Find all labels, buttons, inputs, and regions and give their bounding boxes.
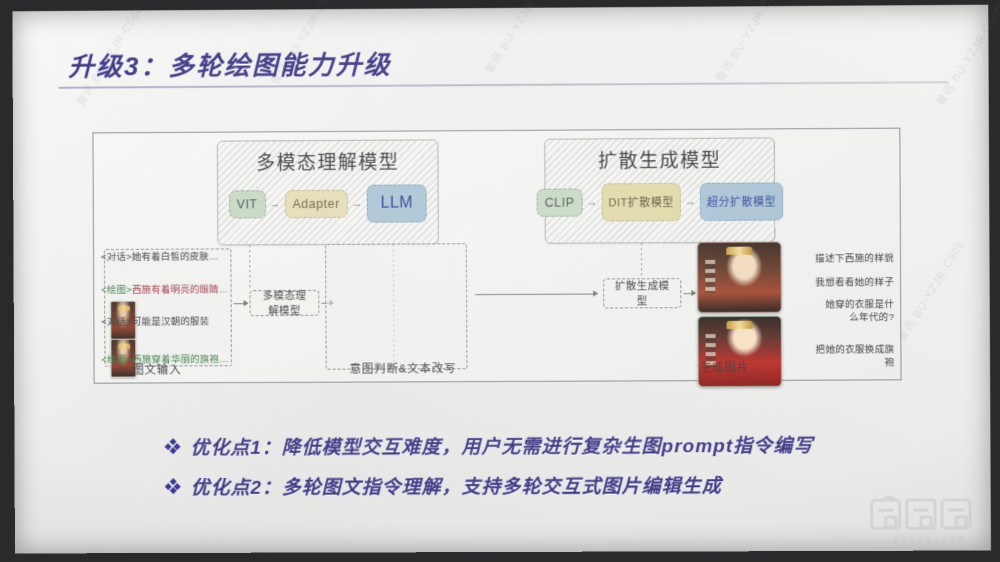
arrow-input-to-mm [234, 303, 248, 304]
model-box-diffusion: 扩散生成模型 [603, 278, 681, 308]
arrow-right-icon: → [269, 198, 280, 210]
group-multimodal-understanding: 多模态理解模型 VIT → Adapter → LLM [217, 139, 439, 245]
tag-dialog: <对话> [101, 317, 132, 328]
logo-glyph-dong [905, 499, 936, 530]
chip-row: VIT → Adapter → LLM [218, 184, 438, 223]
rewrite-text: 她有着白皙的皮肤… [132, 251, 219, 262]
chip-clip: CLIP [537, 189, 583, 217]
image-decor [726, 321, 752, 329]
diamond-bullet-icon [166, 479, 180, 493]
tag-dialog: <对话> [101, 252, 132, 263]
rewrite-text: 西施有着明亮的眼睛… [132, 284, 229, 295]
chip-superres-diffusion: 超分扩散模型 [700, 182, 783, 221]
diamond-bullet-icon [166, 439, 180, 453]
presentation-slide: 曾讯 BU-YZJR-C50b 曾讯 BU-YZJR-C50b 曾讯 BU-YZ… [12, 5, 991, 554]
image-decor [726, 247, 752, 255]
group-title: 扩散生成模型 [545, 145, 774, 173]
logo-domain: zhidx.com [870, 534, 989, 544]
chip-adapter: Adapter [284, 190, 347, 218]
image-decor [705, 259, 716, 292]
tag-draw: <绘图> [101, 285, 132, 296]
list-item: 优化点1：降低模型交互难度，用户无需进行复杂生图prompt指令编写 [166, 431, 814, 460]
rewrite-text: 西施穿着华丽的旗袍… [132, 354, 229, 365]
page-title: 升级3：多轮绘图能力升级 [68, 45, 391, 84]
generated-image-hanfu [697, 242, 782, 314]
logo-glyph-zhi [870, 499, 901, 530]
caption-intent-rewrite: 意图判断&文本改写 [350, 360, 457, 376]
chip-dit-diffusion: DIT扩散模型 [601, 183, 681, 221]
logo-glyph-xi [940, 498, 971, 529]
bullet-text: 优化点2：多轮图文指令理解，支持多轮交互式图片编辑生成 [191, 471, 722, 500]
antenna-icon [881, 496, 897, 503]
watermark: 曾讯 BU-YZJR-C50b [893, 237, 968, 345]
chip-vit: VIT [229, 190, 266, 218]
brand-logo: zhidx.com [870, 498, 989, 551]
arrow-right-icon: → [352, 198, 363, 210]
group-diffusion-generation: 扩散生成模型 CLIP → DIT扩散模型 → 超分扩散模型 [544, 137, 775, 243]
rewrite-text: 可能是汉朝的服装 [132, 316, 209, 327]
bullet-list: 优化点1：降低模型交互难度，用户无需进行复杂生图prompt指令编写 优化点2：… [166, 431, 814, 513]
tag-draw: <绘图> [101, 355, 132, 366]
list-item: 优化点2：多轮图文指令理解，支持多轮交互式图片编辑生成 [166, 471, 814, 500]
watermark: 曾讯 BU-YZJR-C50b [711, 0, 786, 85]
logo-glyphs [870, 498, 989, 529]
chip-llm: LLM [366, 184, 427, 222]
projector-photo: 曾讯 BU-YZJR-C50b 曾讯 BU-YZJR-C50b 曾讯 BU-YZ… [0, 0, 1000, 562]
arrow-diffusion-to-output [683, 293, 695, 294]
watermark: 曾讯 BU-YZJR-C50b [481, 0, 556, 77]
pipeline-diagram: 多模态理解模型 VIT → Adapter → LLM 扩散生成模型 CLIP … [92, 128, 901, 384]
arrow-right-icon: → [586, 196, 597, 208]
watermark: 曾讯 BU-YZJR-C50b [932, 1, 1000, 109]
caption-generated-images: 生成图片 [700, 359, 749, 375]
group-title: 多模态理解模型 [218, 147, 438, 175]
bullet-text: 优化点1：降低模型交互难度，用户无需进行复杂生图prompt指令编写 [190, 431, 813, 460]
chip-row: CLIP → DIT扩散模型 → 超分扩散模型 [546, 182, 775, 221]
arrow-right-icon: → [685, 196, 696, 208]
generated-image-qipao [697, 316, 782, 387]
